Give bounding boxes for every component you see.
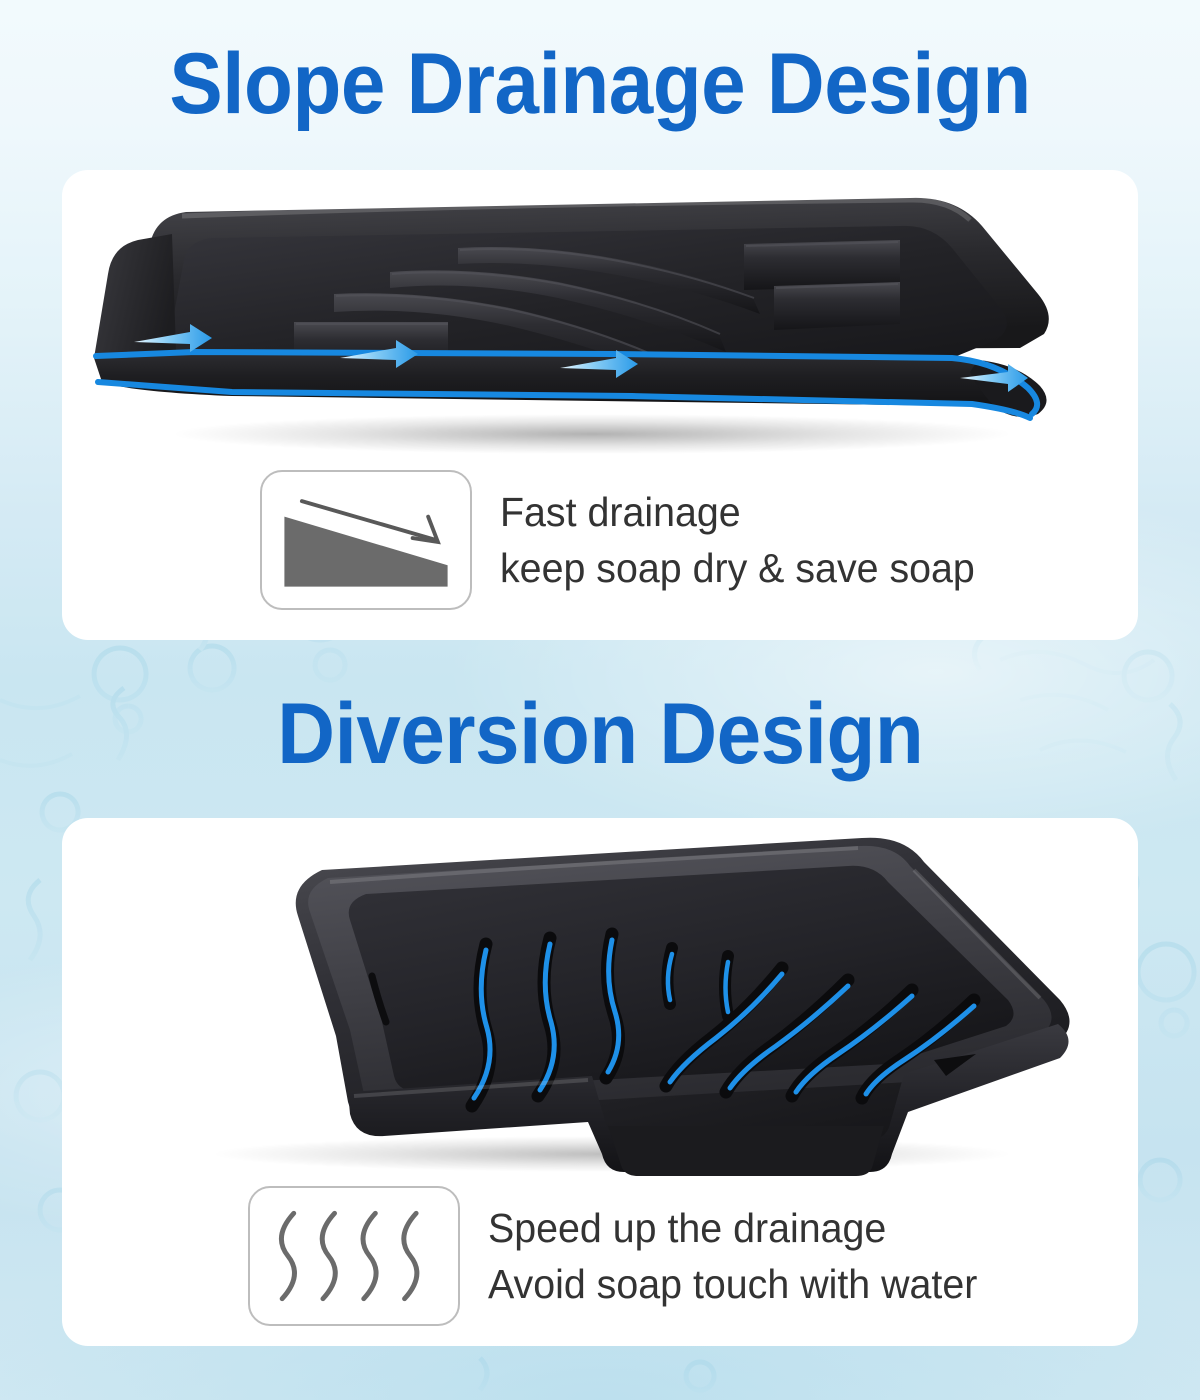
feature-line-1: Speed up the drainage [488, 1200, 977, 1256]
product-shadow [172, 414, 1012, 454]
feature-callout-fast-drainage: Fast drainage keep soap dry & save soap [260, 470, 995, 610]
slope-drainage-icon [260, 470, 472, 610]
product-image-soap-tray-diversion [72, 824, 1128, 1176]
drainage-spout-tab [608, 1126, 884, 1176]
feature-line-2: Avoid soap touch with water [488, 1256, 977, 1312]
section-title-slope-drainage: Slope Drainage Design [0, 36, 1200, 132]
feature-text-block: Speed up the drainage Avoid soap touch w… [488, 1200, 998, 1312]
card-slope-drainage: Fast drainage keep soap dry & save soap [62, 170, 1138, 640]
infographic-page: Slope Drainage Design [0, 0, 1200, 1400]
wavy-flow-lines-icon [248, 1186, 460, 1326]
feature-text-block: Fast drainage keep soap dry & save soap [500, 484, 995, 596]
card-diversion-design: Speed up the drainage Avoid soap touch w… [62, 818, 1138, 1346]
section-title-text: Diversion Design [277, 686, 923, 782]
wave-lines [281, 1213, 416, 1298]
feature-callout-speed-up-drainage: Speed up the drainage Avoid soap touch w… [248, 1186, 998, 1326]
slope-wedge-shape [284, 517, 447, 587]
product-image-soap-tray-slope [72, 182, 1128, 458]
section-title-text: Slope Drainage Design [169, 36, 1030, 132]
feature-line-1: Fast drainage [500, 484, 975, 540]
section-title-diversion-design: Diversion Design [0, 686, 1200, 782]
feature-line-2: keep soap dry & save soap [500, 540, 975, 596]
